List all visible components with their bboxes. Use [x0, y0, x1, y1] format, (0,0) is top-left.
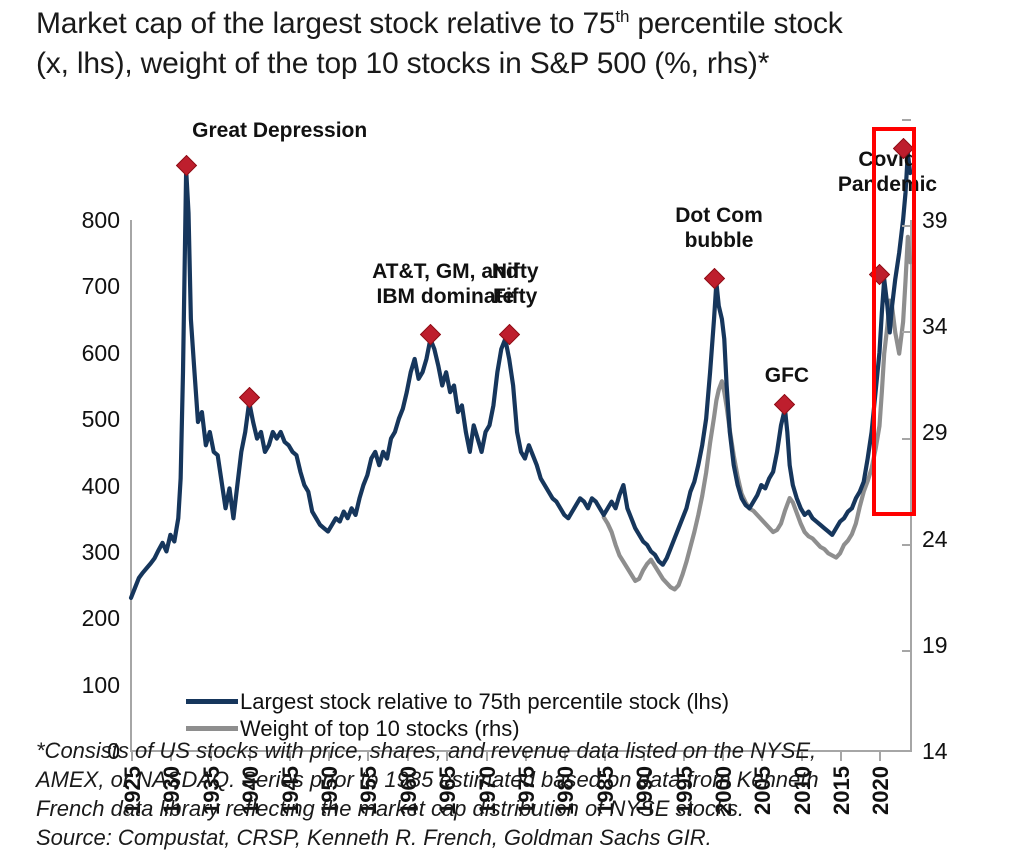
- left-axis-tick-800: 800: [54, 207, 120, 234]
- diamond-icon: [239, 387, 260, 408]
- legend-swatch-navy: [186, 699, 238, 704]
- left-axis-tick-500: 500: [54, 406, 120, 433]
- diamond-icon: [176, 155, 197, 176]
- chart-container: 0100200300400500600700800 141924293439 1…: [0, 100, 1024, 660]
- diamond-icon: [499, 324, 520, 345]
- right-axis-tickmark: [902, 438, 911, 440]
- right-axis-labels: 141924293439: [922, 200, 1002, 760]
- left-axis-tick-300: 300: [54, 539, 120, 566]
- right-axis-tickmark: [902, 650, 911, 652]
- left-axis-tick-600: 600: [54, 340, 120, 367]
- footnote-line-4: Source: Compustat, CRSP, Kenneth R. Fren…: [36, 823, 1016, 852]
- legend-item-navy: Largest stock relative to 75th percentil…: [186, 688, 729, 715]
- left-axis-tick-700: 700: [54, 273, 120, 300]
- diamond-icon: [774, 394, 795, 415]
- peak-marker-nifty_fifty: [500, 325, 519, 344]
- annotation-label-great_depression: Great Depression: [192, 118, 422, 143]
- left-axis-tick-400: 400: [54, 473, 120, 500]
- annotation-label-nifty_fifty: Nifty Fifty: [469, 259, 561, 309]
- left-axis-tick-200: 200: [54, 605, 120, 632]
- legend-label-navy: Largest stock relative to 75th percentil…: [240, 688, 729, 715]
- diamond-icon: [420, 324, 441, 345]
- footnote: *Consists of US stocks with price, share…: [36, 736, 1016, 852]
- chart-page: Market cap of the largest stock relative…: [0, 0, 1024, 859]
- title-superscript: th: [615, 7, 629, 26]
- right-axis-tickmark: [902, 544, 911, 546]
- peak-marker-dot_com: [705, 269, 724, 288]
- peak-marker-att_gm_ibm: [421, 325, 440, 344]
- footnote-line-2: AMEX, or NASDAQ. Series prior to 1985 es…: [36, 765, 1016, 794]
- annotation-label-dot_com: Dot Com bubble: [659, 203, 779, 253]
- page-title: Market cap of the largest stock relative…: [36, 4, 1004, 84]
- right-axis-tick-34: 34: [922, 313, 988, 340]
- left-axis-tick-100: 100: [54, 672, 120, 699]
- chart-legend: Largest stock relative to 75th percentil…: [186, 688, 729, 742]
- highlight-rectangle: [872, 127, 915, 517]
- peak-marker-great_depression: [177, 156, 196, 175]
- title-line1-b: percentile stock: [629, 7, 842, 40]
- title-line2: (x, lhs), weight of the top 10 stocks in…: [36, 47, 769, 80]
- peak-marker-gfc: [775, 395, 794, 414]
- footnote-line-1: *Consists of US stocks with price, share…: [36, 736, 1016, 765]
- right-axis-tick-39: 39: [922, 207, 988, 234]
- right-axis-tickmark: [902, 331, 911, 333]
- title-line1-a: Market cap of the largest stock relative…: [36, 7, 615, 40]
- right-axis-tick-19: 19: [922, 632, 988, 659]
- annotation-label-gfc: GFC: [755, 363, 819, 388]
- right-axis-tick-29: 29: [922, 419, 988, 446]
- right-axis-tickmark: [902, 225, 911, 227]
- right-axis-tickmark: [902, 119, 911, 121]
- legend-swatch-grey: [186, 726, 238, 731]
- series-line-weight-top10: [604, 237, 910, 590]
- peak-marker-peak_1940: [240, 388, 259, 407]
- left-axis-labels: 0100200300400500600700800: [44, 200, 120, 760]
- footnote-line-3: French data library reflecting the marke…: [36, 794, 1016, 823]
- diamond-icon: [703, 268, 724, 289]
- right-axis-tick-24: 24: [922, 526, 988, 553]
